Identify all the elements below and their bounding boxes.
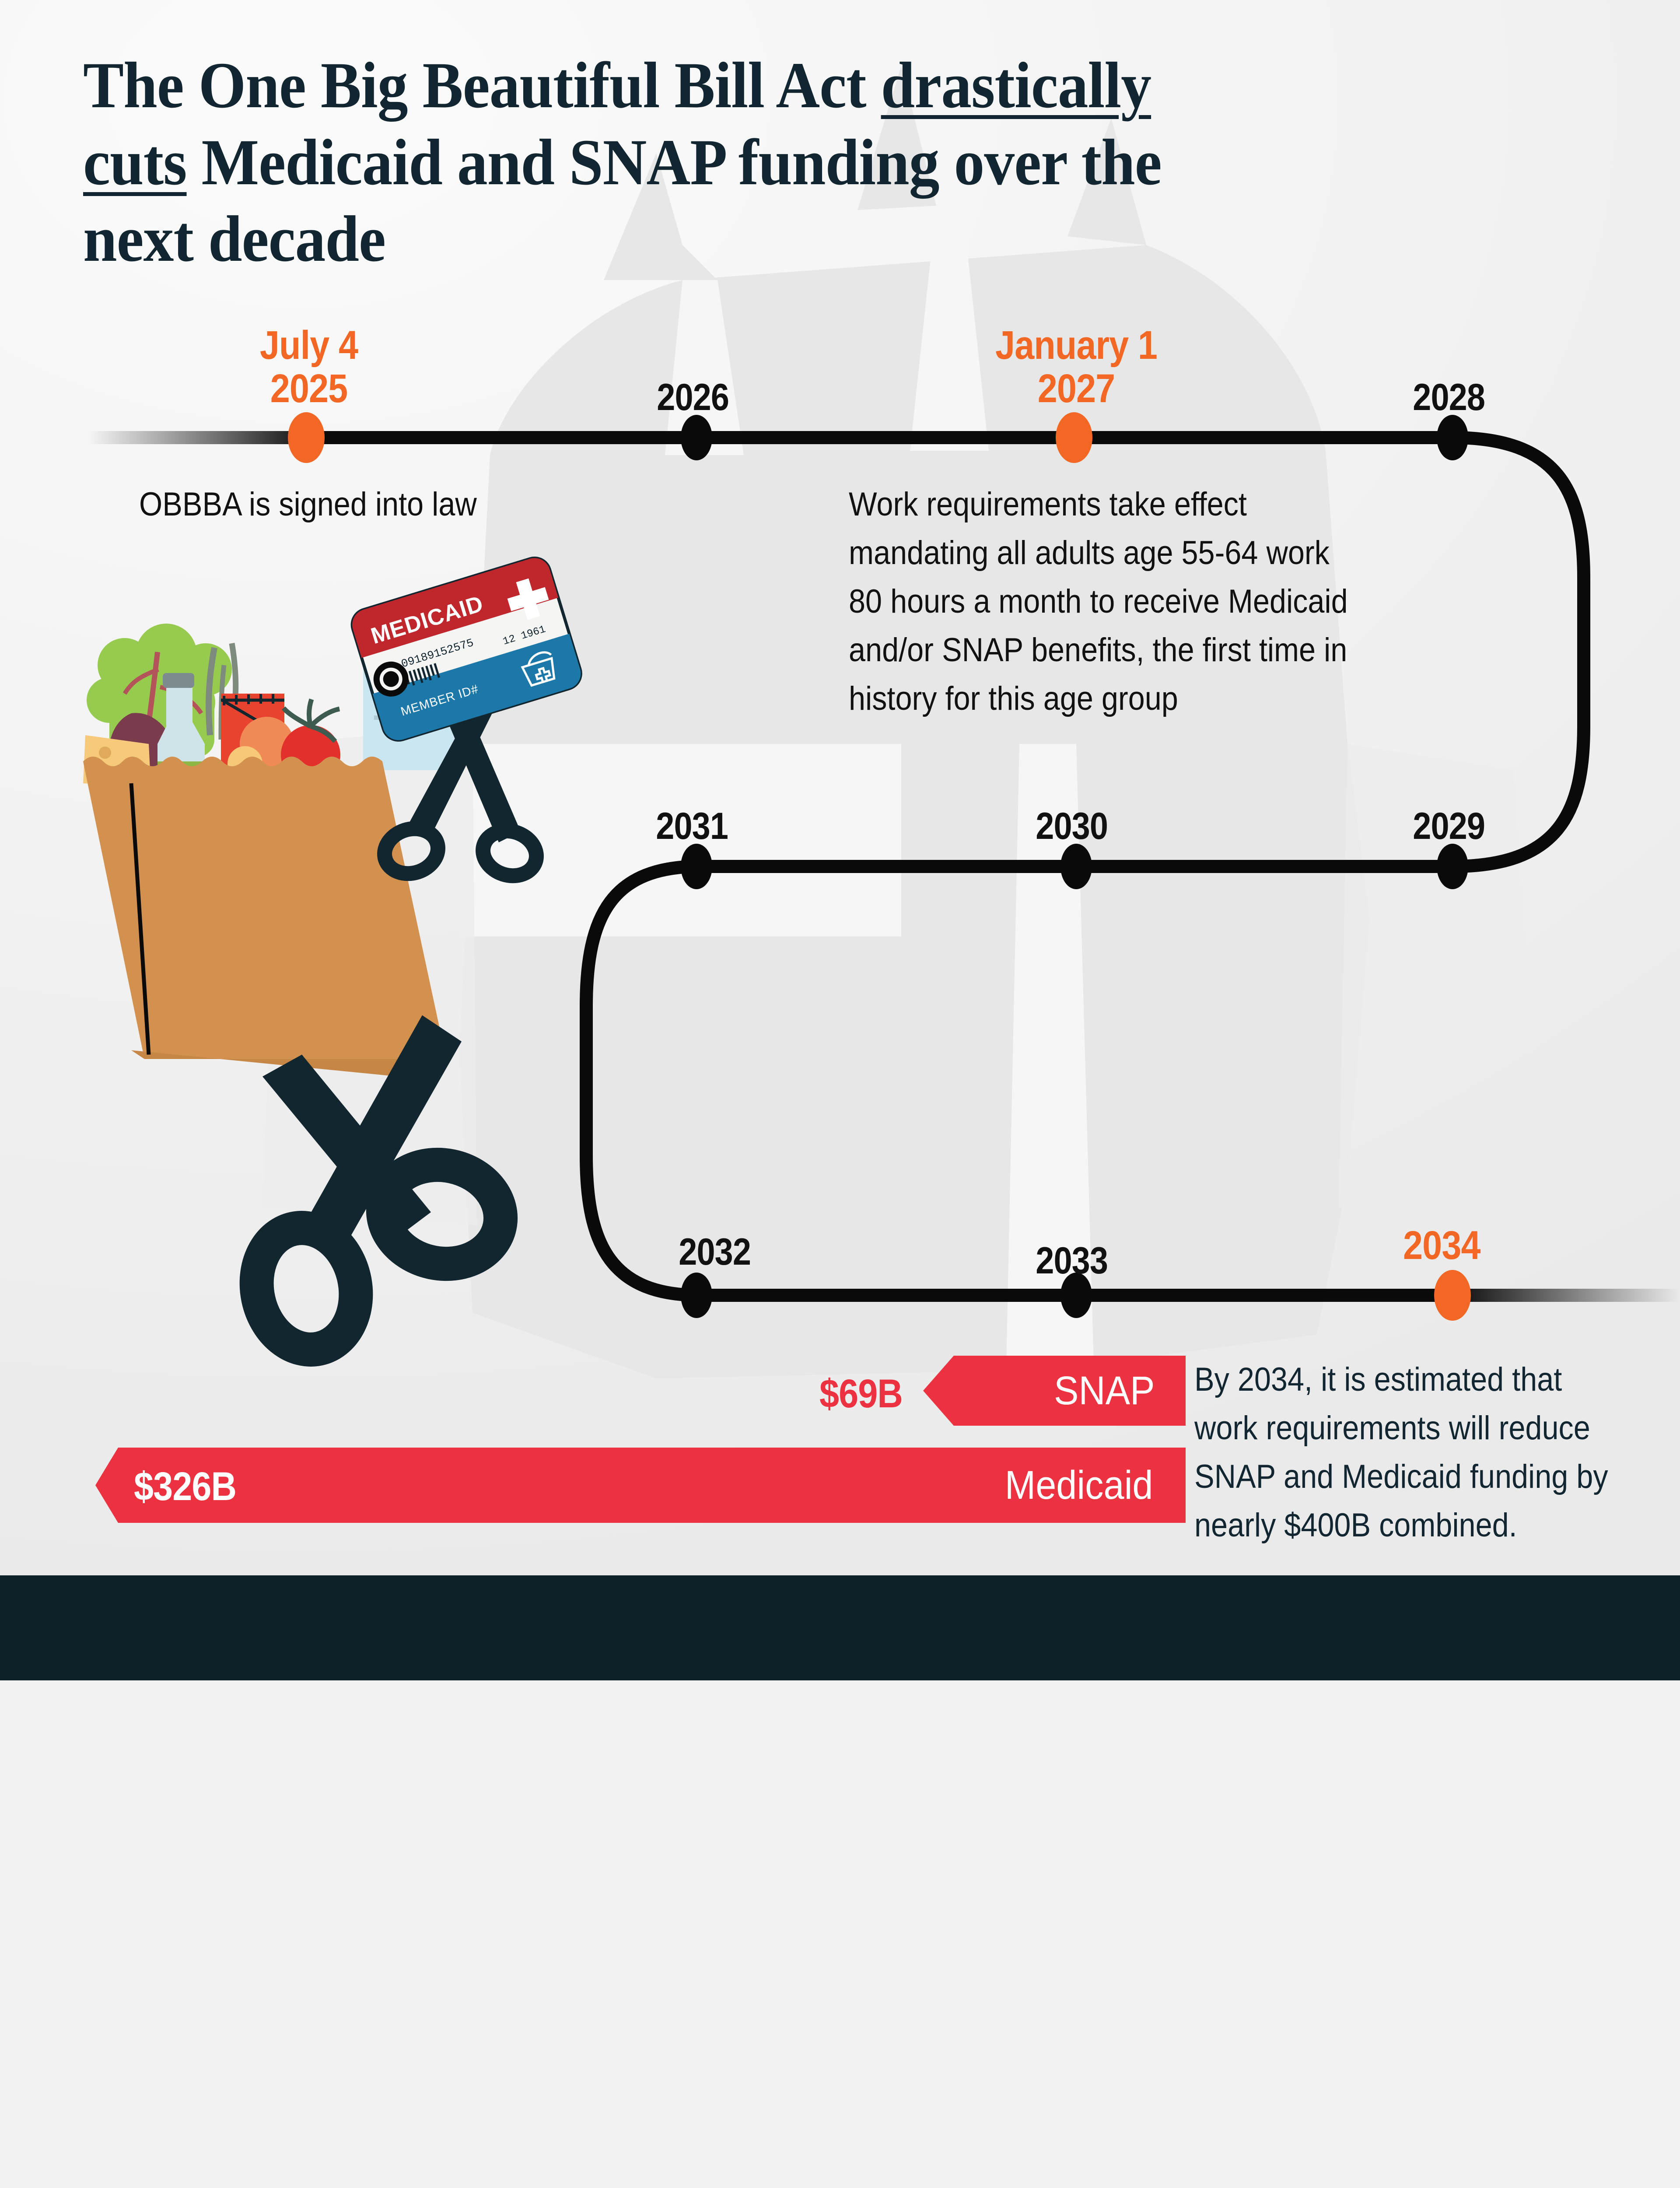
bar-label-medicaid: Medicaid (1005, 1462, 1153, 1508)
annotation-2027: Work requirements take effect mandating … (849, 480, 1357, 723)
title-underline-cuts: cuts (83, 126, 187, 199)
title-line-1-pre: The One Big Beautiful Bill Act (83, 49, 881, 122)
timeline-year-2025: 2025 (255, 367, 363, 410)
timeline-year-2027: 2027 (991, 367, 1161, 410)
timeline-label-2026: 2026 (657, 379, 729, 416)
infographic-canvas: The One Big Beautiful Bill Act drastical… (0, 0, 1680, 1680)
timeline-label-2027: January 1 2027 (991, 324, 1161, 411)
timeline-label-2029: 2029 (1413, 807, 1485, 845)
bar-value-snap: $69B (819, 1371, 903, 1417)
timeline-label-2033: 2033 (1036, 1242, 1108, 1280)
timeline-date-2025: July 4 (255, 324, 363, 367)
title-line-2-post: Medicaid and SNAP funding over the (187, 126, 1162, 199)
bar-snap: SNAP (923, 1356, 1186, 1426)
timeline-label-2025: July 4 2025 (255, 324, 363, 411)
timeline-label-2034: 2034 (1403, 1225, 1480, 1266)
page-title: The One Big Beautiful Bill Act drastical… (83, 47, 1377, 278)
title-line-3: next decade (83, 203, 385, 275)
annotation-2034: By 2034, it is estimated that work requi… (1194, 1356, 1620, 1550)
bar-value-medicaid: $326B (134, 1464, 236, 1510)
annotation-2025: OBBBA is signed into law (139, 480, 612, 529)
timeline-date-2027: January 1 (991, 324, 1161, 367)
title-underline-drastically: drastically (881, 49, 1151, 122)
timeline-label-2030: 2030 (1036, 807, 1108, 845)
bar-label-snap: SNAP (1054, 1368, 1155, 1414)
timeline-label-2028: 2028 (1413, 379, 1485, 416)
footer-bar: SOURCES: CBPP.org; KFF.org; WestHealthMo… (0, 1575, 1680, 1680)
timeline-label-2032: 2032 (679, 1233, 751, 1271)
bar-medicaid: Medicaid (95, 1448, 1186, 1523)
timeline-label-2031: 2031 (656, 807, 728, 845)
